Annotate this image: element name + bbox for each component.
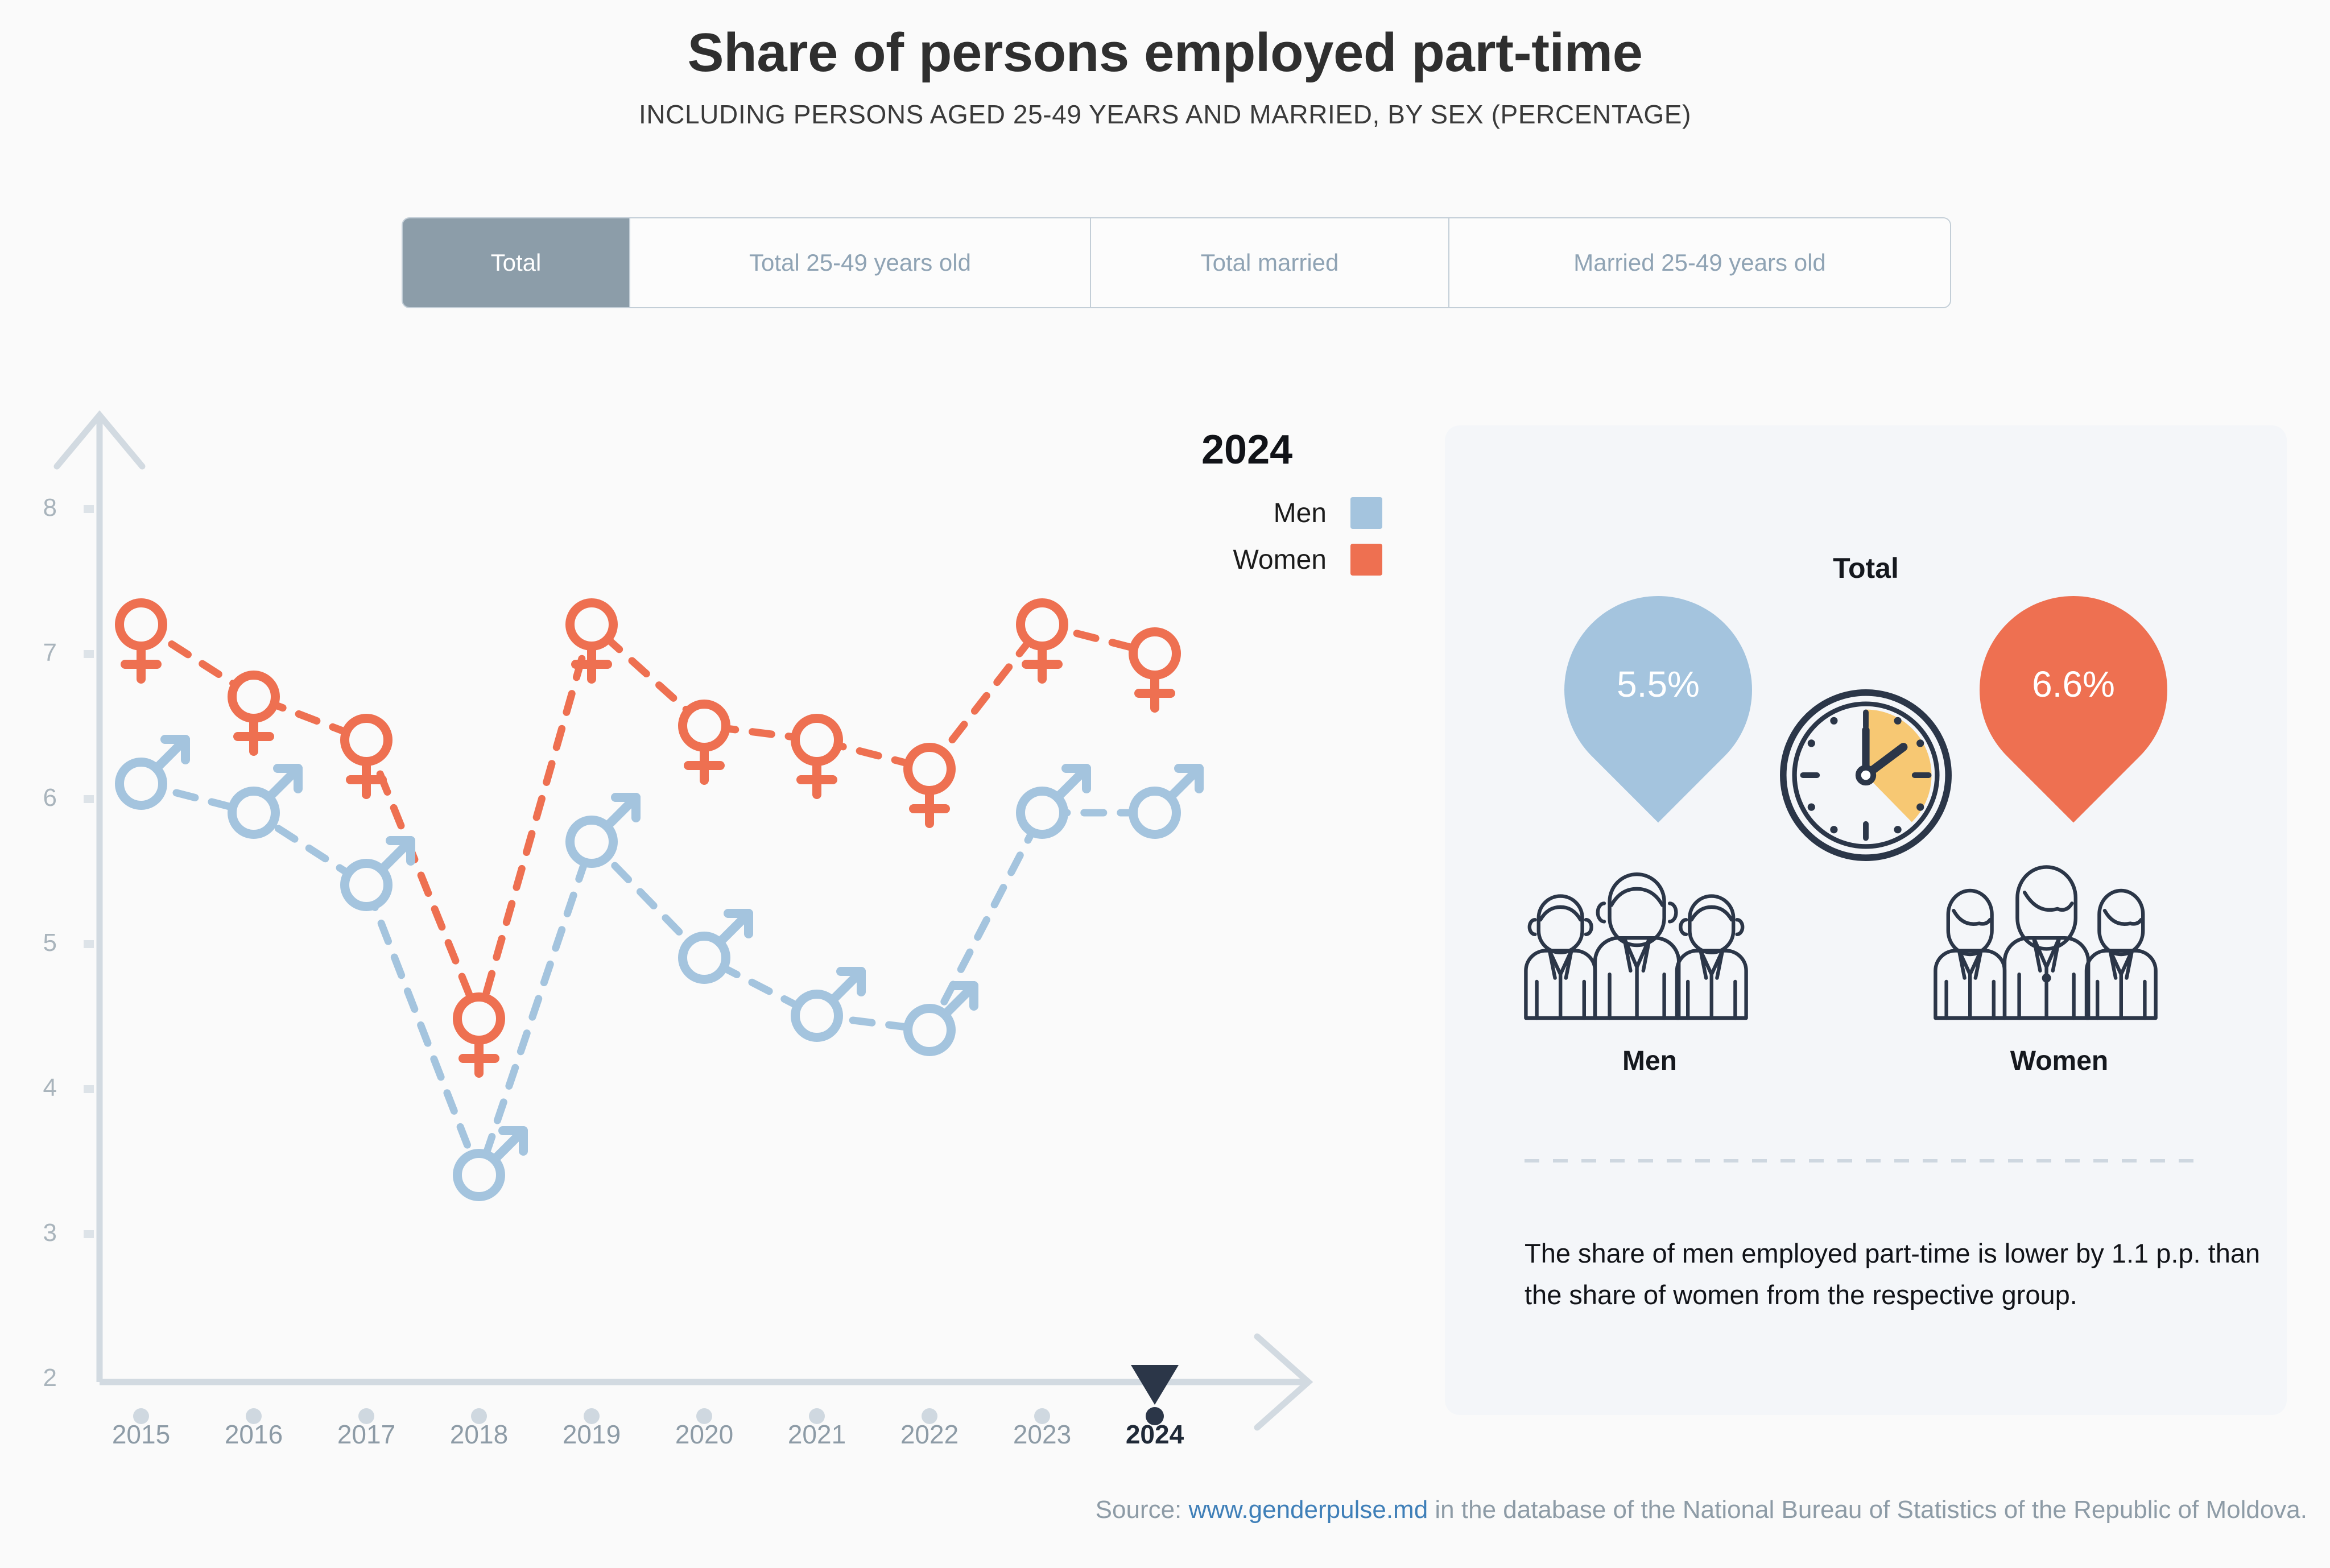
men-value-pin: 5.5% (1564, 596, 1752, 824)
tab-bar[interactable]: Total Total 25-49 years old Total marrie… (402, 217, 1951, 308)
women-group-icon (1923, 863, 2196, 1023)
tab-total-25-49-years-old[interactable]: Total 25-49 years old (630, 218, 1091, 307)
men-group-label: Men (1513, 1045, 1786, 1077)
legend-item-women[interactable]: Women (1189, 544, 1382, 576)
men-group-icon (1513, 863, 1786, 1023)
x-tick-label-2016: 2016 (191, 1419, 316, 1450)
y-tick-label-7: 7 (6, 639, 57, 667)
tab-total-married[interactable]: Total married (1091, 218, 1449, 307)
women-value-pin: 6.6% (1980, 596, 2167, 824)
women-group-label: Women (1923, 1045, 2196, 1077)
source-footer: Source: www.genderpulse.md in the databa… (0, 1496, 2330, 1524)
source-suffix: in the database of the National Bureau o… (1428, 1496, 2307, 1524)
x-tick-label-2019: 2019 (529, 1419, 654, 1450)
series-line-men (141, 784, 1155, 1175)
y-tick-label-2: 2 (6, 1364, 57, 1392)
x-tick-label-2023: 2023 (980, 1419, 1105, 1450)
legend-swatch-women (1350, 544, 1382, 576)
x-tick-label-2021: 2021 (754, 1419, 879, 1450)
men-percentage: 5.5% (1564, 663, 1752, 705)
y-tick-label-5: 5 (6, 929, 57, 957)
group-icons: Men Women (1445, 863, 2287, 1034)
tab-married-25-49-years-old[interactable]: Married 25-49 years old (1449, 218, 1950, 307)
women-percentage: 6.6% (1980, 663, 2167, 705)
y-tick-label-4: 4 (6, 1074, 57, 1102)
legend-swatch-men (1350, 497, 1382, 529)
x-tick-label-2022: 2022 (867, 1419, 992, 1450)
infographic-page: Share of persons employed part-time INCL… (0, 0, 2330, 1568)
line-chart: 8 7 6 5 4 3 2 2015 2016 2017 2018 2019 2… (0, 398, 1394, 1479)
chart-legend: 2024 Men Women (1189, 427, 1382, 590)
legend-year: 2024 (1201, 427, 1382, 473)
source-link[interactable]: www.genderpulse.md (1189, 1496, 1428, 1524)
legend-label-women: Women (1233, 544, 1327, 576)
y-tick-marks (84, 505, 94, 1238)
card-divider (1525, 1159, 2207, 1162)
page-header: Share of persons employed part-time INCL… (0, 0, 2330, 130)
legend-item-men[interactable]: Men (1189, 497, 1382, 529)
x-tick-label-2024[interactable]: 2024 (1092, 1419, 1217, 1450)
x-tick-label-2018: 2018 (416, 1419, 542, 1450)
y-tick-label-8: 8 (6, 494, 57, 522)
page-title: Share of persons employed part-time (0, 0, 2330, 83)
tab-total[interactable]: Total (403, 218, 630, 307)
series-line-women (141, 624, 1155, 1019)
x-tick-label-2017: 2017 (304, 1419, 429, 1450)
x-tick-label-2020: 2020 (642, 1419, 767, 1450)
y-tick-label-6: 6 (6, 784, 57, 812)
x-tick-label-2015: 2015 (79, 1419, 204, 1450)
y-axis (57, 415, 142, 1382)
card-title: Total (1445, 552, 2287, 585)
page-subtitle: INCLUDING PERSONS AGED 25-49 YEARS AND M… (0, 83, 2330, 130)
clock-icon (1772, 681, 1960, 869)
card-note: The share of men employed part-time is l… (1525, 1233, 2264, 1316)
source-prefix: Source: (1096, 1496, 1189, 1524)
legend-label-men: Men (1274, 498, 1327, 529)
chart-canvas (0, 398, 1394, 1479)
summary-card: Total 5.5% 6.6% (1445, 425, 2287, 1415)
marker-men (119, 739, 1199, 1197)
y-tick-label-3: 3 (6, 1219, 57, 1247)
